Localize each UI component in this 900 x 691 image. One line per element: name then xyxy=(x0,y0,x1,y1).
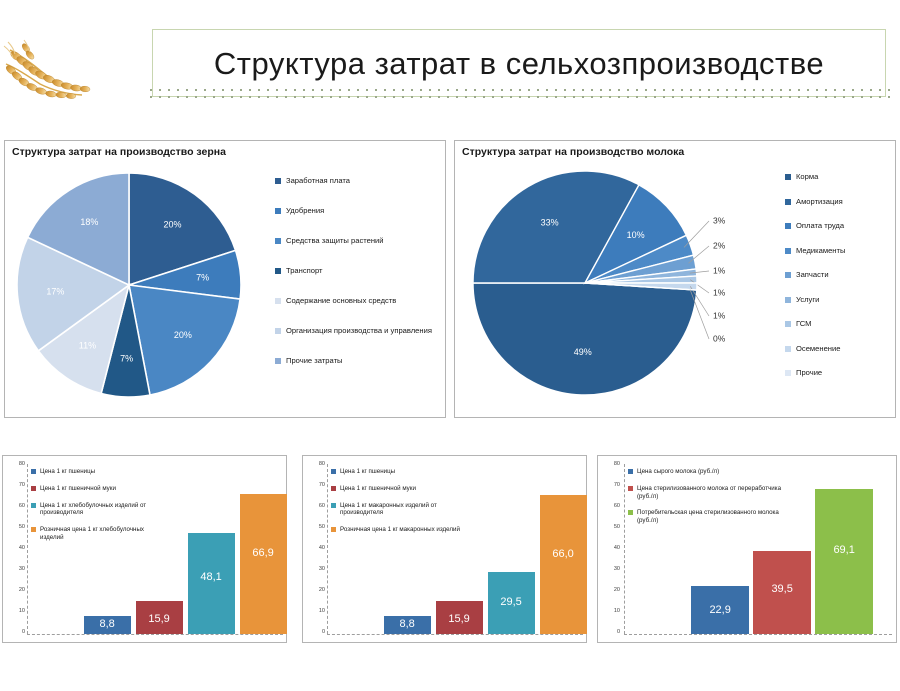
legend-swatch-icon xyxy=(785,248,791,254)
pie-slice-label: 0% xyxy=(713,333,726,343)
bar: 66,0 xyxy=(540,495,587,634)
legend-swatch-icon xyxy=(331,469,336,474)
y-axis-labels-2: 80706050403020100 xyxy=(303,464,325,632)
y-axis-tick-label: 80 xyxy=(614,461,620,467)
bar-value-label: 8,8 xyxy=(384,618,431,630)
legend-item-label: Услуги xyxy=(796,296,819,305)
legend-swatch-icon xyxy=(628,469,633,474)
legend-swatch-icon xyxy=(785,223,791,229)
chart-panel-wheat-price-chain: 80706050403020100 8,815,948,166,9 Цена 1… xyxy=(2,455,287,643)
y-axis-tick-label: 30 xyxy=(19,566,25,572)
bar: 29,5 xyxy=(488,572,535,634)
legend-swatch-icon xyxy=(785,272,791,278)
pie-chart-grain: 20%7%20%7%11%17%18% xyxy=(11,163,261,411)
pie-slice-label: 17% xyxy=(46,286,64,296)
legend-item: Заработная плата xyxy=(275,177,443,207)
x-axis-line-1 xyxy=(27,634,283,635)
y-axis-tick-label: 10 xyxy=(19,608,25,614)
legend-swatch-icon xyxy=(275,178,281,184)
pie-slice-label: 49% xyxy=(574,347,592,357)
legend-item-label: Розничная цена 1 кг макаронных изделий xyxy=(340,526,460,534)
title-dot-rule-bottom xyxy=(150,96,890,98)
legend-item-label: Корма xyxy=(796,173,818,182)
chart-panel-milk-cost-structure: Структура затрат на производство молока … xyxy=(454,140,896,418)
legend-item: Услуги xyxy=(785,296,895,321)
y-axis-labels-1: 80706050403020100 xyxy=(3,464,25,632)
legend-item-label: Заработная плата xyxy=(286,177,350,186)
bar-value-label: 29,5 xyxy=(488,596,535,608)
y-axis-tick-label: 20 xyxy=(19,587,25,593)
legend-item-label: Средства защиты растений xyxy=(286,237,384,246)
legend-swatch-icon xyxy=(628,510,633,515)
legend-swatch-icon xyxy=(31,486,36,491)
y-axis-tick-label: 10 xyxy=(319,608,325,614)
y-axis-line-2 xyxy=(327,464,328,634)
y-axis-tick-label: 0 xyxy=(322,629,325,635)
legend-item-label: Цена стерилизованного молока от перерабо… xyxy=(637,485,788,501)
y-axis-tick-label: 70 xyxy=(19,482,25,488)
legend-item: Цена сырого молока (руб./л) xyxy=(628,468,788,476)
pie-slice-label: 10% xyxy=(627,230,645,240)
legend-item-label: Потребительская цена стерилизованного мо… xyxy=(637,509,788,525)
chart-title-grain: Структура затрат на производство зерна xyxy=(12,146,226,158)
legend-swatch-icon xyxy=(275,298,281,304)
chart-title-milk: Структура затрат на производство молока xyxy=(462,146,684,158)
y-axis-tick-label: 70 xyxy=(319,482,325,488)
legend-swatch-icon xyxy=(275,358,281,364)
bar-value-label: 66,9 xyxy=(240,547,287,559)
y-axis-tick-label: 0 xyxy=(617,629,620,635)
pie-slice-label: 20% xyxy=(174,330,192,340)
bar-value-label: 48,1 xyxy=(188,571,235,583)
legend-item: Содержание основных средств xyxy=(275,297,443,327)
chart-panel-milk-price-chain: 80706050403020100 22,939,569,1 Цена сыро… xyxy=(597,455,897,643)
legend-swatch-icon xyxy=(331,503,336,508)
legend-item-label: Цена 1 кг макаронных изделий от производ… xyxy=(340,502,466,518)
bar: 15,9 xyxy=(436,601,483,634)
pie-slice-label: 20% xyxy=(163,220,181,230)
y-axis-tick-label: 60 xyxy=(19,503,25,509)
bar: 48,1 xyxy=(188,533,235,634)
legend-item: Амортизация xyxy=(785,198,895,223)
bar-value-label: 15,9 xyxy=(136,613,183,625)
legend-swatch-icon xyxy=(275,208,281,214)
legend-item-label: Цена 1 кг пшеничной муки xyxy=(340,485,416,493)
legend-item-label: Удобрения xyxy=(286,207,324,216)
y-axis-tick-label: 80 xyxy=(19,461,25,467)
legend-swatch-icon xyxy=(785,199,791,205)
bar: 39,5 xyxy=(753,551,811,634)
y-axis-tick-label: 10 xyxy=(614,608,620,614)
page-title: Структура затрат в сельхозпроизводстве xyxy=(152,36,886,92)
legend-item-label: Оплата труда xyxy=(796,222,844,231)
legend-swatch-icon xyxy=(785,370,791,376)
legend-item: Цена 1 кг пшеничной муки xyxy=(31,485,166,493)
legend-swatch-icon xyxy=(31,503,36,508)
pie-slice-label: 18% xyxy=(80,217,98,227)
y-axis-tick-label: 60 xyxy=(614,503,620,509)
y-axis-line-1 xyxy=(27,464,28,634)
pie-slice-label: 33% xyxy=(541,218,559,228)
bar-value-label: 22,9 xyxy=(691,604,749,616)
wheat-ears-icon xyxy=(2,28,134,106)
chart-panel-grain-cost-structure: Структура затрат на производство зерна 2… xyxy=(4,140,446,418)
legend-item: Корма xyxy=(785,173,895,198)
legend-item-label: Цена 1 кг пшеницы xyxy=(340,468,395,476)
pie-chart-milk: 49%33%10%3%2%1%1%1%0% xyxy=(467,161,787,411)
legend-item-label: Розничная цена 1 кг хлебобулочных издели… xyxy=(40,526,166,542)
bar: 69,1 xyxy=(815,489,873,634)
legend-item-label: Осеменение xyxy=(796,345,840,354)
legend-item: ГСМ xyxy=(785,320,895,345)
bar-value-label: 66,0 xyxy=(540,548,587,560)
pie-slice-label: 7% xyxy=(120,353,133,363)
pie-slice-label: 1% xyxy=(713,265,726,275)
bar: 15,9 xyxy=(136,601,183,634)
legend-item: Организация производства и управления xyxy=(275,327,443,357)
legend-swatch-icon xyxy=(275,238,281,244)
bar-value-label: 8,8 xyxy=(84,618,131,630)
legend-item-label: ГСМ xyxy=(796,320,812,329)
legend-item: Удобрения xyxy=(275,207,443,237)
legend-item: Прочие xyxy=(785,369,895,394)
legend-item: Розничная цена 1 кг хлебобулочных издели… xyxy=(31,526,166,542)
bar: 66,9 xyxy=(240,494,287,634)
legend-swatch-icon xyxy=(275,268,281,274)
pie-slice xyxy=(473,283,697,395)
y-axis-tick-label: 80 xyxy=(319,461,325,467)
bar: 8,8 xyxy=(384,616,431,634)
y-axis-tick-label: 20 xyxy=(319,587,325,593)
chart-panel-pasta-price-chain: 80706050403020100 8,815,929,566,0 Цена 1… xyxy=(302,455,587,643)
legend-item: Оплата труда xyxy=(785,222,895,247)
legend-item-label: Цена 1 кг пшеничной муки xyxy=(40,485,116,493)
legend-item-label: Прочие xyxy=(796,369,822,378)
legend-swatch-icon xyxy=(31,527,36,532)
legend-item-label: Организация производства и управления xyxy=(286,327,432,336)
legend-item-label: Прочие затраты xyxy=(286,357,343,366)
pie-slice-label: 11% xyxy=(79,341,96,351)
y-axis-tick-label: 50 xyxy=(319,524,325,530)
pie-slice-label: 7% xyxy=(196,272,209,282)
legend-item: Медикаменты xyxy=(785,247,895,272)
y-axis-line-3 xyxy=(624,464,625,634)
y-axis-tick-label: 50 xyxy=(614,524,620,530)
legend-item-label: Запчасти xyxy=(796,271,829,280)
legend-item: Цена 1 кг хлебобулочных изделий от произ… xyxy=(31,502,166,518)
legend-item: Цена 1 кг макаронных изделий от производ… xyxy=(331,502,466,518)
legend-item: Розничная цена 1 кг макаронных изделий xyxy=(331,526,466,534)
bar-value-label: 39,5 xyxy=(753,583,811,595)
y-axis-tick-label: 40 xyxy=(319,545,325,551)
legend-swatch-icon xyxy=(785,297,791,303)
legend-swatch-icon xyxy=(331,486,336,491)
legend-swatch-icon xyxy=(331,527,336,532)
pie-slice-label: 3% xyxy=(713,215,726,225)
legend-item: Прочие затраты xyxy=(275,357,443,387)
legend-item: Осеменение xyxy=(785,345,895,370)
legend-item-label: Цена 1 кг пшеницы xyxy=(40,468,95,476)
y-axis-tick-label: 50 xyxy=(19,524,25,530)
y-axis-tick-label: 60 xyxy=(319,503,325,509)
bar-value-label: 15,9 xyxy=(436,613,483,625)
legend-item-label: Амортизация xyxy=(796,198,843,207)
legend-swatch-icon xyxy=(785,346,791,352)
legend-item: Цена стерилизованного молока от перерабо… xyxy=(628,485,788,501)
bar: 22,9 xyxy=(691,586,749,634)
y-axis-tick-label: 40 xyxy=(19,545,25,551)
y-axis-tick-label: 30 xyxy=(614,566,620,572)
y-axis-labels-3: 80706050403020100 xyxy=(598,464,620,632)
legend-swatch-icon xyxy=(275,328,281,334)
x-axis-line-2 xyxy=(327,634,583,635)
y-axis-tick-label: 40 xyxy=(614,545,620,551)
pie-slice-label: 2% xyxy=(713,240,726,250)
legend-item-label: Цена 1 кг хлебобулочных изделий от произ… xyxy=(40,502,166,518)
y-axis-tick-label: 20 xyxy=(614,587,620,593)
legend-swatch-icon xyxy=(628,486,633,491)
legend-item: Запчасти xyxy=(785,271,895,296)
pie-leader-line xyxy=(684,221,709,247)
legend-item: Транспорт xyxy=(275,267,443,297)
legend-item: Потребительская цена стерилизованного мо… xyxy=(628,509,788,525)
legend-item-label: Цена сырого молока (руб./л) xyxy=(637,468,719,476)
bar: 8,8 xyxy=(84,616,131,634)
pie-slice-label: 1% xyxy=(713,287,726,297)
legend-item-label: Медикаменты xyxy=(796,247,845,256)
legend-item: Цена 1 кг пшеницы xyxy=(331,468,466,476)
y-axis-tick-label: 70 xyxy=(614,482,620,488)
pie-slice-label: 1% xyxy=(713,310,726,320)
bar-value-label: 69,1 xyxy=(815,544,873,556)
legend-item: Цена 1 кг пшеницы xyxy=(31,468,166,476)
legend-milk-price-chain: Цена сырого молока (руб./л)Цена стерилиз… xyxy=(628,468,788,534)
legend-item: Средства защиты растений xyxy=(275,237,443,267)
legend-item-label: Содержание основных средств xyxy=(286,297,396,306)
legend-swatch-icon xyxy=(31,469,36,474)
legend-swatch-icon xyxy=(785,321,791,327)
x-axis-line-3 xyxy=(624,634,892,635)
legend-milk: КормаАмортизацияОплата трудаМедикаментыЗ… xyxy=(785,173,895,394)
legend-pasta-price-chain: Цена 1 кг пшеницыЦена 1 кг пшеничной мук… xyxy=(331,468,466,543)
legend-item: Цена 1 кг пшеничной муки xyxy=(331,485,466,493)
legend-grain: Заработная платаУдобренияСредства защиты… xyxy=(275,177,443,387)
legend-item-label: Транспорт xyxy=(286,267,323,276)
legend-swatch-icon xyxy=(785,174,791,180)
y-axis-tick-label: 30 xyxy=(319,566,325,572)
y-axis-tick-label: 0 xyxy=(22,629,25,635)
legend-wheat-price-chain: Цена 1 кг пшеницыЦена 1 кг пшеничной мук… xyxy=(31,468,166,551)
